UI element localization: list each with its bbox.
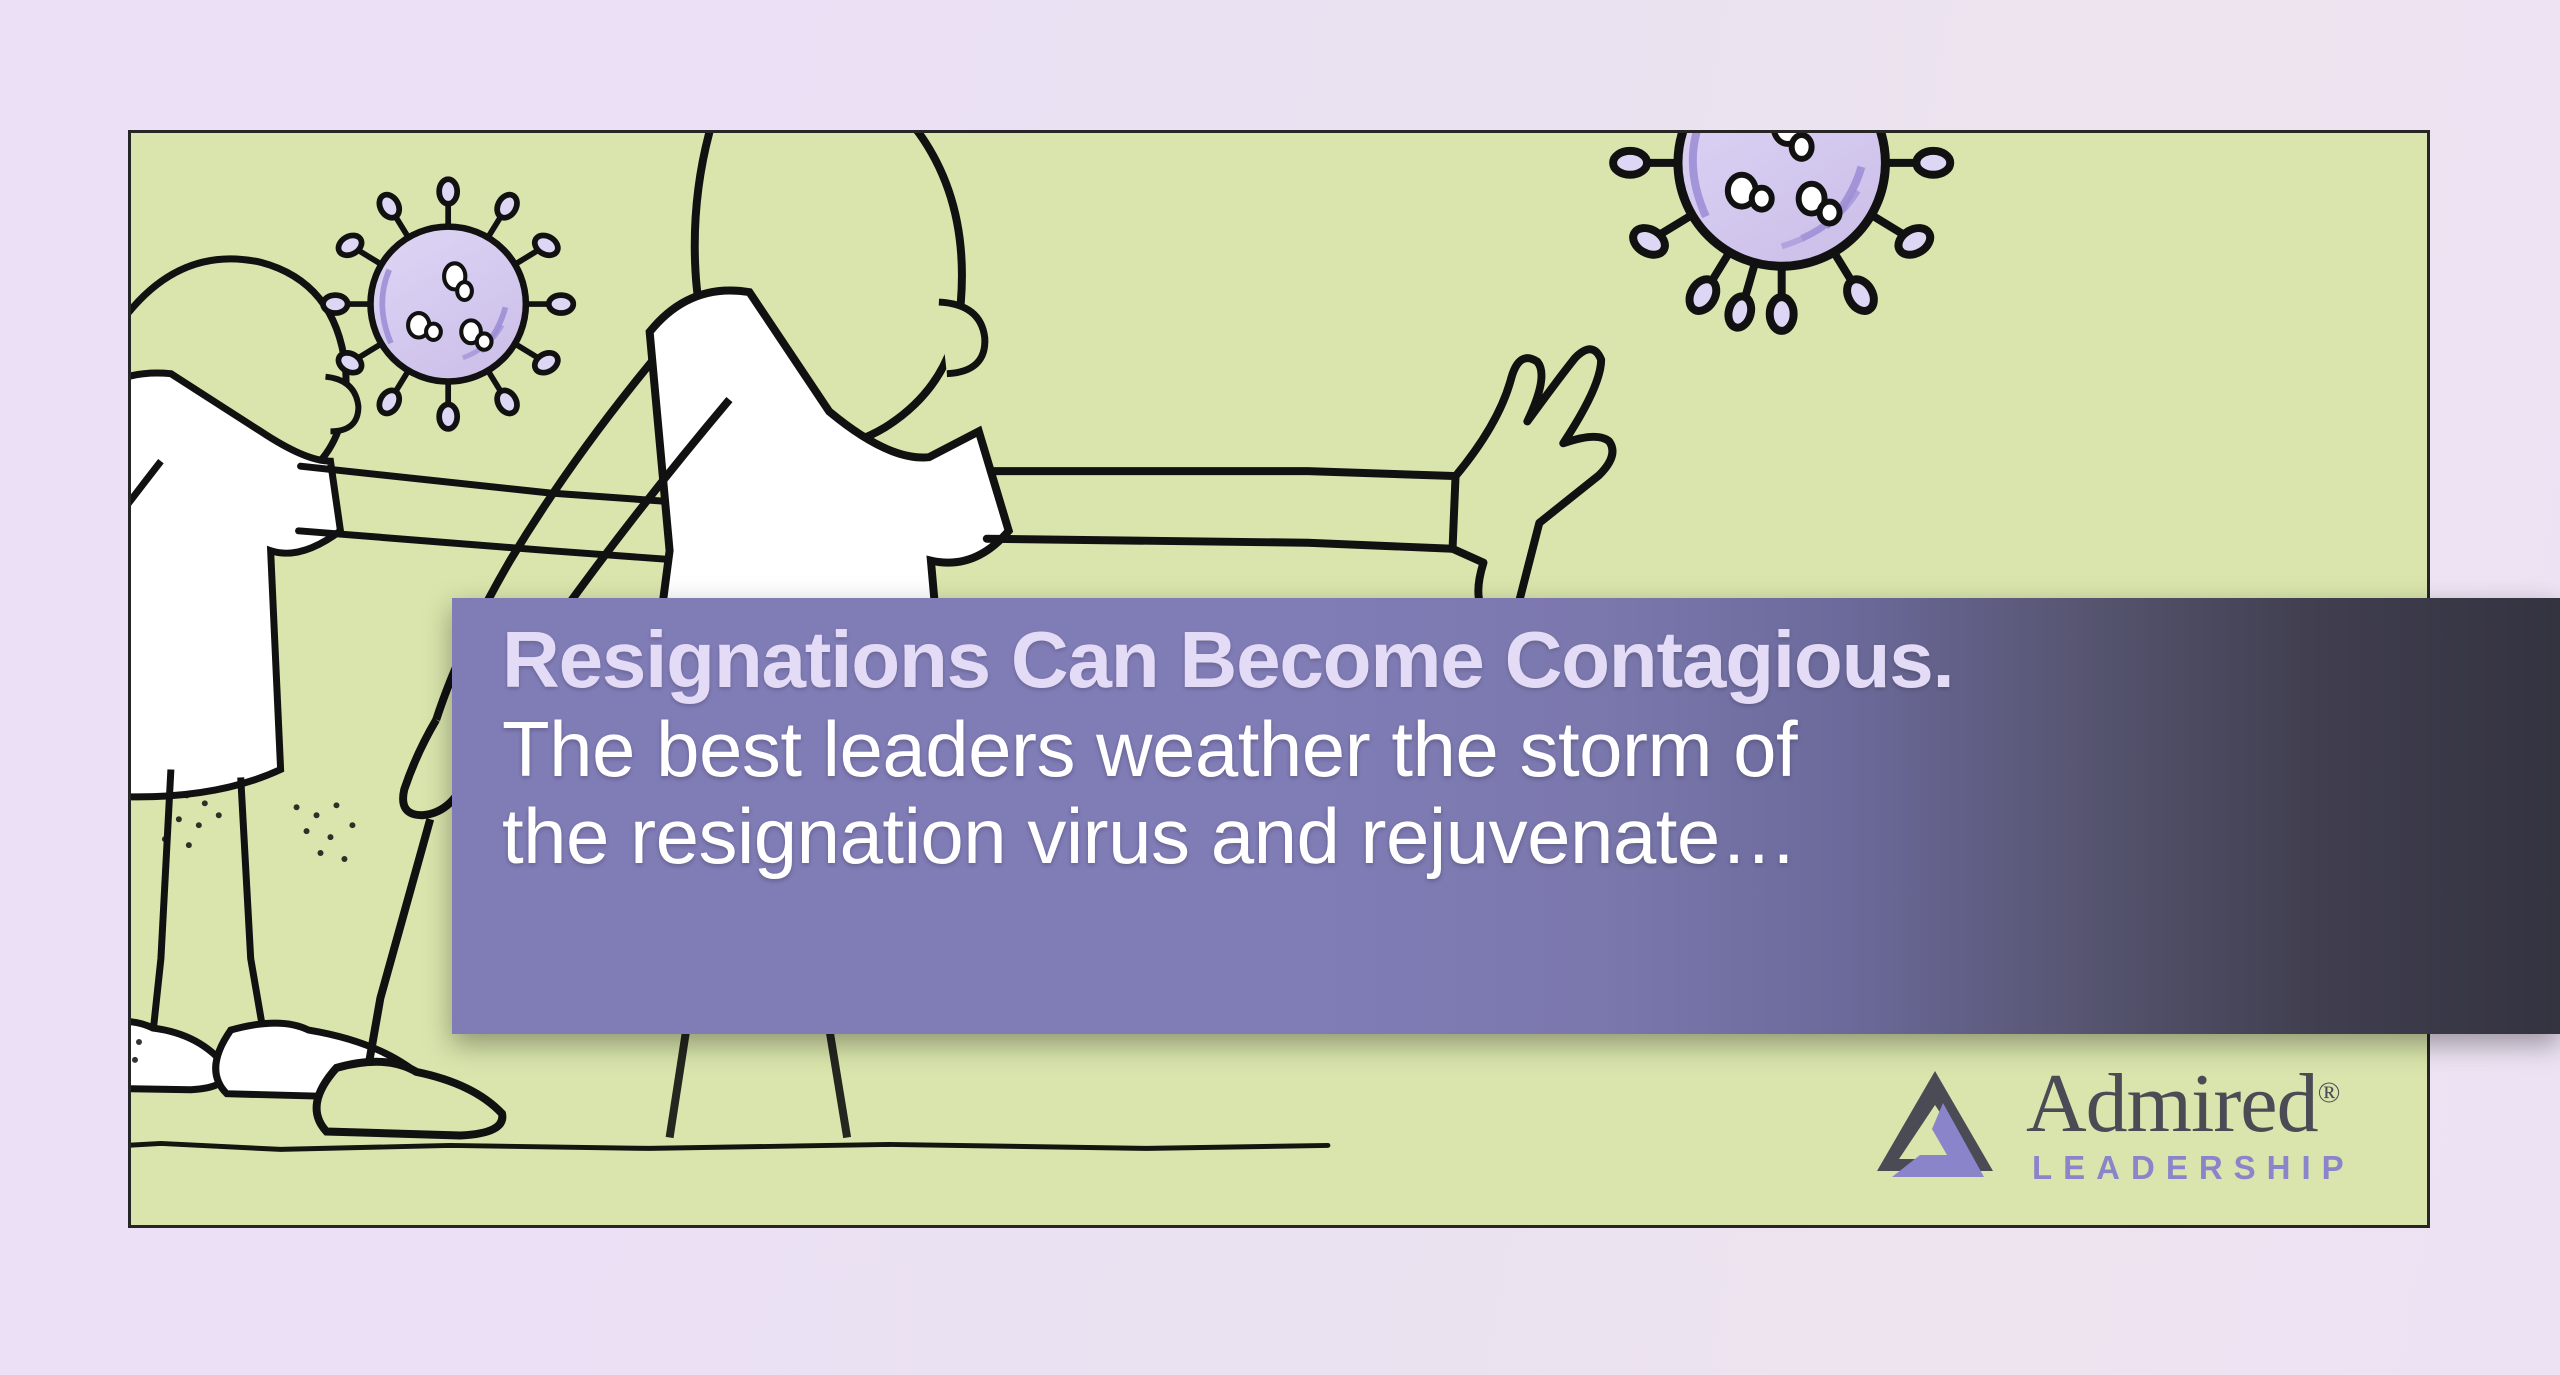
subtitle-line-2: the resignation virus and rejuvenate… [502, 793, 2560, 880]
virus-particle-small [323, 179, 573, 429]
logo-wordmark-text: Admired [2026, 1057, 2318, 1150]
logo-tagline: LEADERSHIP [2032, 1149, 2355, 1187]
triangle-logo-icon [1872, 1067, 1998, 1185]
admired-leadership-logo[interactable]: Admired® LEADERSHIP [1872, 1052, 2392, 1200]
promo-card: Resignations Can Become Contagious. The … [0, 0, 2560, 1375]
headline-overlay: Resignations Can Become Contagious. The … [452, 598, 2560, 1034]
registered-trademark-icon: ® [2318, 1076, 2340, 1109]
virus-particle-large [1613, 133, 1950, 331]
logo-wordmark: Admired® [2026, 1065, 2355, 1142]
subtitle-line-1: The best leaders weather the storm of [502, 706, 2560, 793]
ground-line [131, 1143, 1328, 1149]
headline-text: Resignations Can Become Contagious. [502, 620, 2560, 700]
logo-wordmark-group: Admired® LEADERSHIP [2026, 1065, 2355, 1186]
